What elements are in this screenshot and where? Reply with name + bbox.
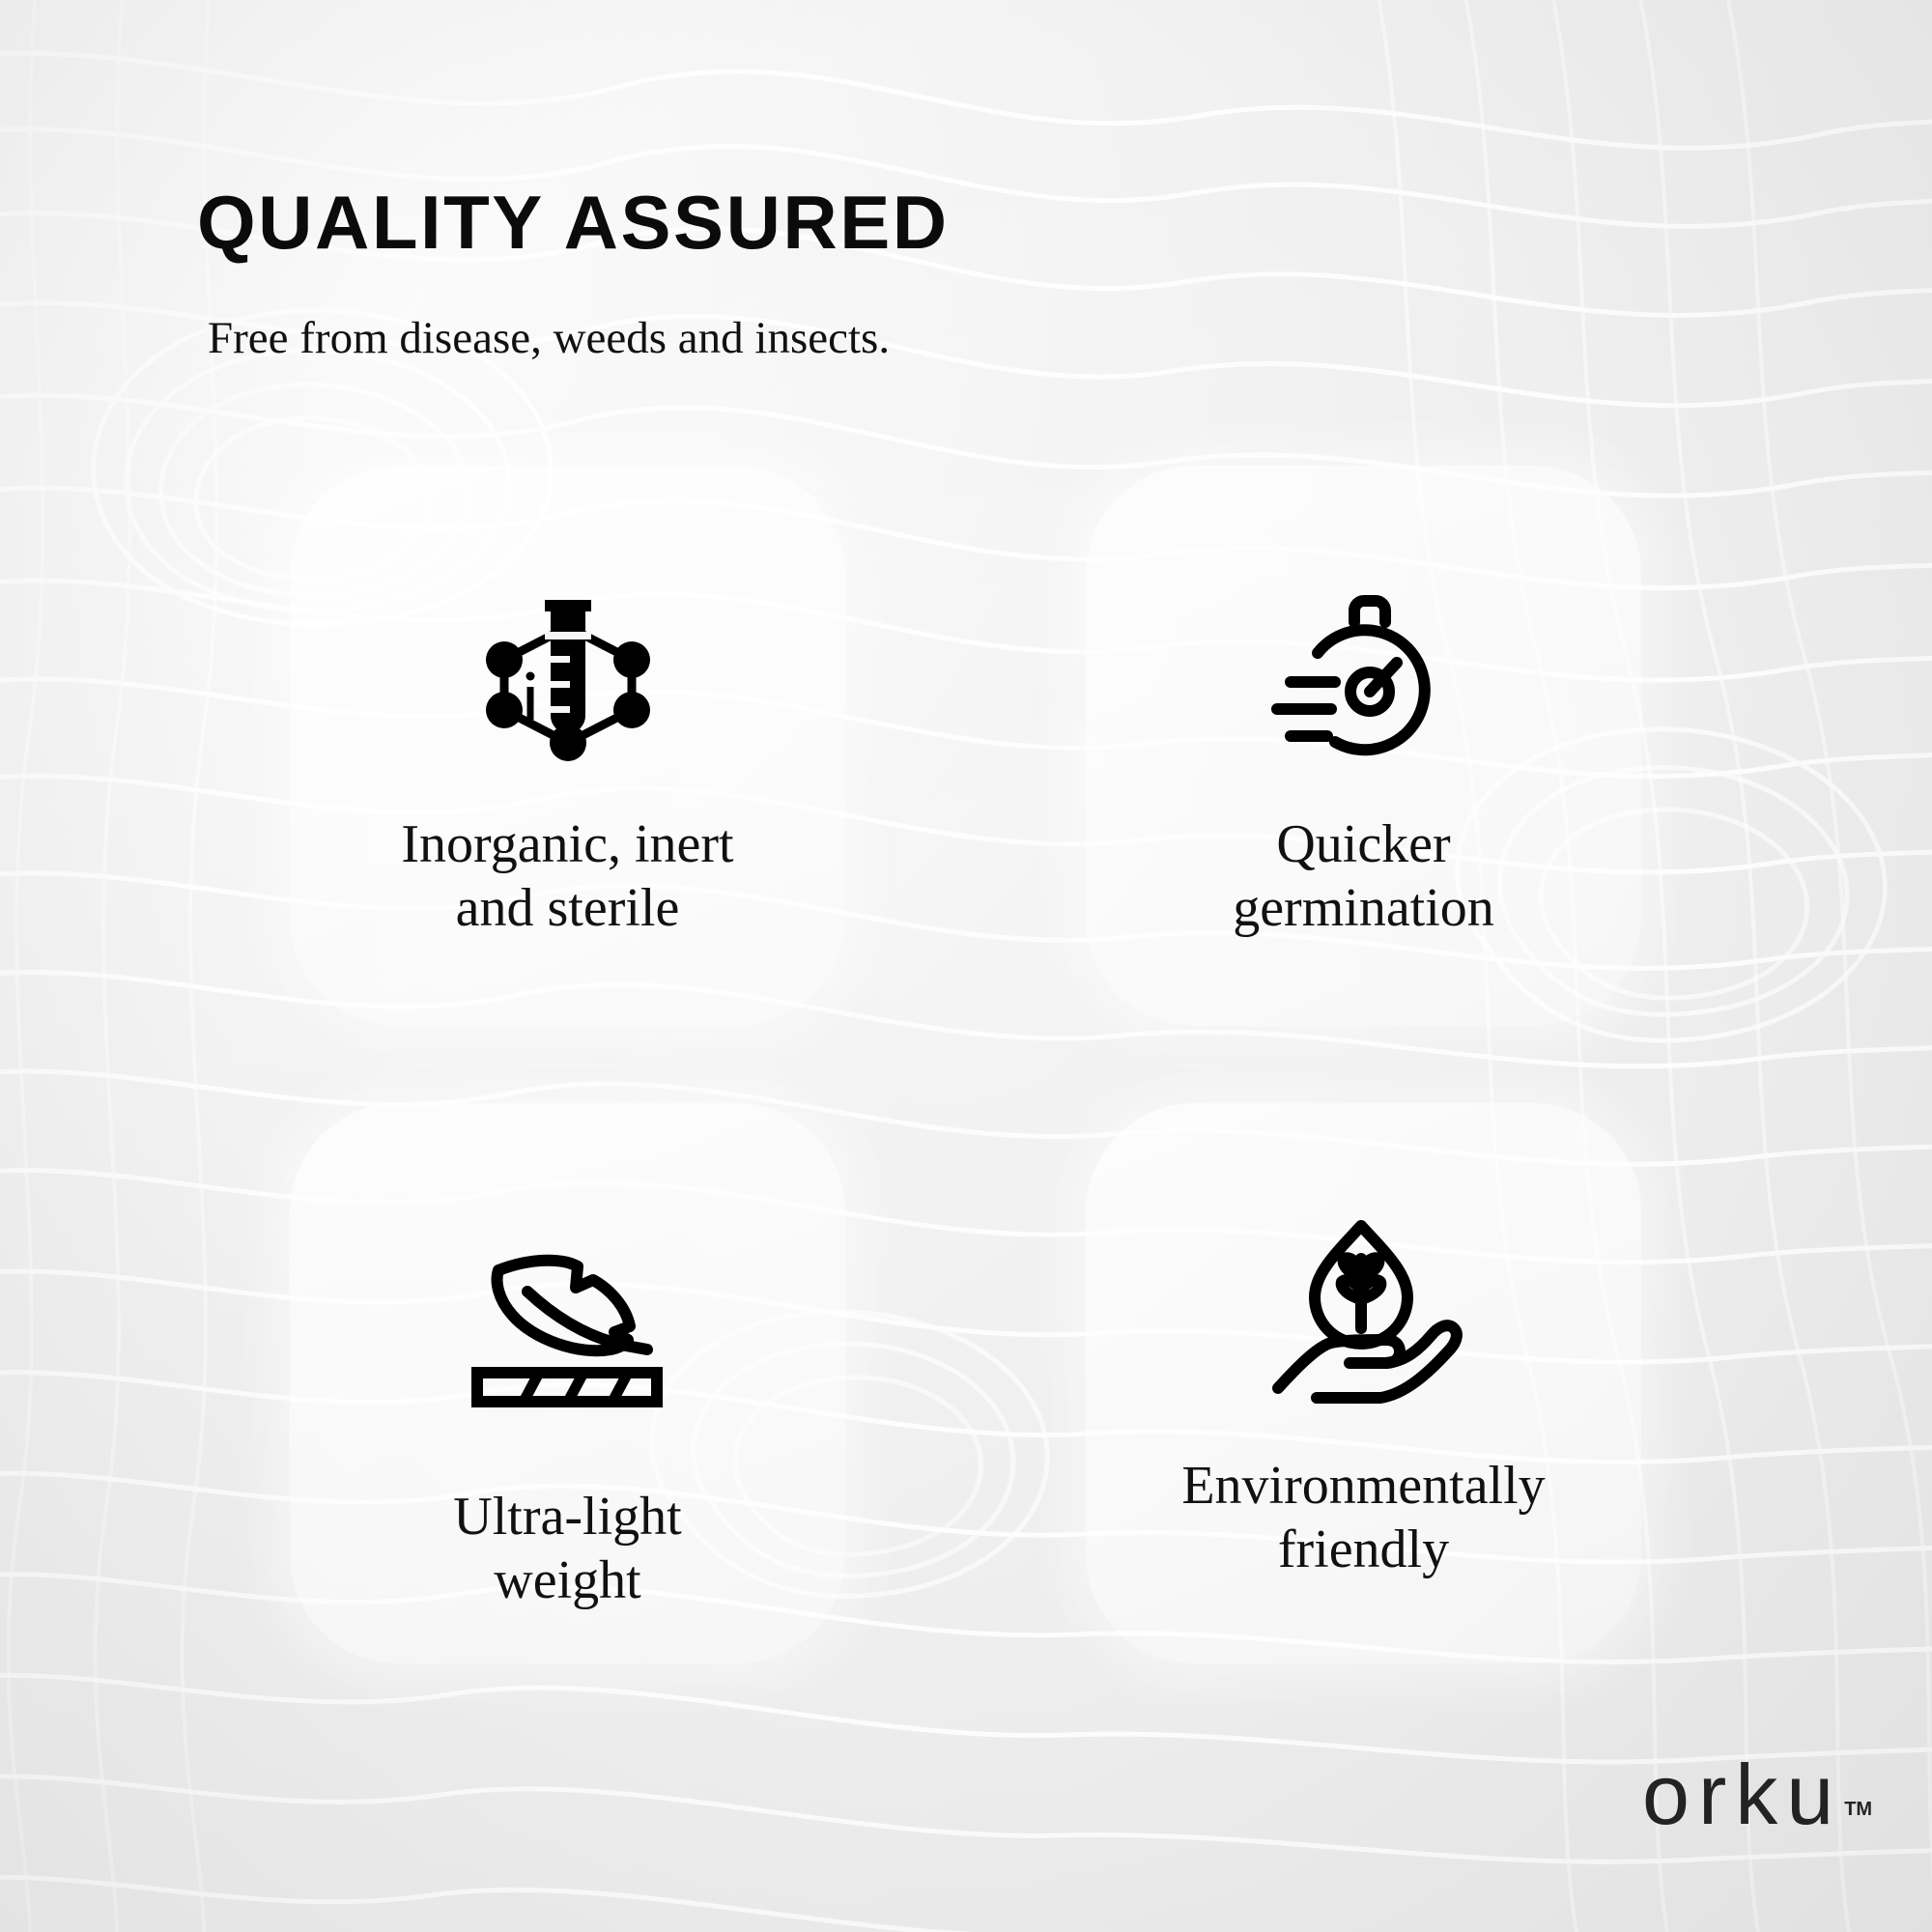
feature-card-eco[interactable]: Environmentally friendly — [1086, 1103, 1641, 1663]
promo-graphic: QUALITY ASSURED Free from disease, weeds… — [0, 0, 1932, 1932]
page-title: QUALITY ASSURED — [197, 185, 950, 260]
feature-card-inorganic[interactable]: Inorganic, inert and sterile — [290, 466, 845, 1026]
feather-on-mat-icon — [462, 1219, 674, 1441]
feature-card-label: Inorganic, inert and sterile — [401, 813, 733, 940]
leaf-in-hand-icon — [1258, 1200, 1470, 1422]
feature-card-label: Ultra-light weight — [453, 1486, 681, 1612]
feature-card-label: Quicker germination — [1233, 813, 1494, 940]
trademark-symbol: TM — [1844, 1799, 1872, 1821]
feature-card-label: Environmentally friendly — [1181, 1455, 1545, 1581]
brand-logo-wordmark: orku — [1642, 1756, 1842, 1833]
feature-card-grid: Inorganic, inert and sterile — [290, 466, 1642, 1663]
stopwatch-speed-icon — [1258, 570, 1470, 792]
feature-card-germination[interactable]: Quicker germination — [1086, 466, 1641, 1026]
molecule-test-tube-icon — [462, 570, 674, 792]
feature-card-lightweight[interactable]: Ultra-light weight — [290, 1103, 845, 1663]
page-subtitle: Free from disease, weeds and insects. — [208, 316, 890, 361]
brand-logo: orku TM — [1642, 1756, 1872, 1833]
